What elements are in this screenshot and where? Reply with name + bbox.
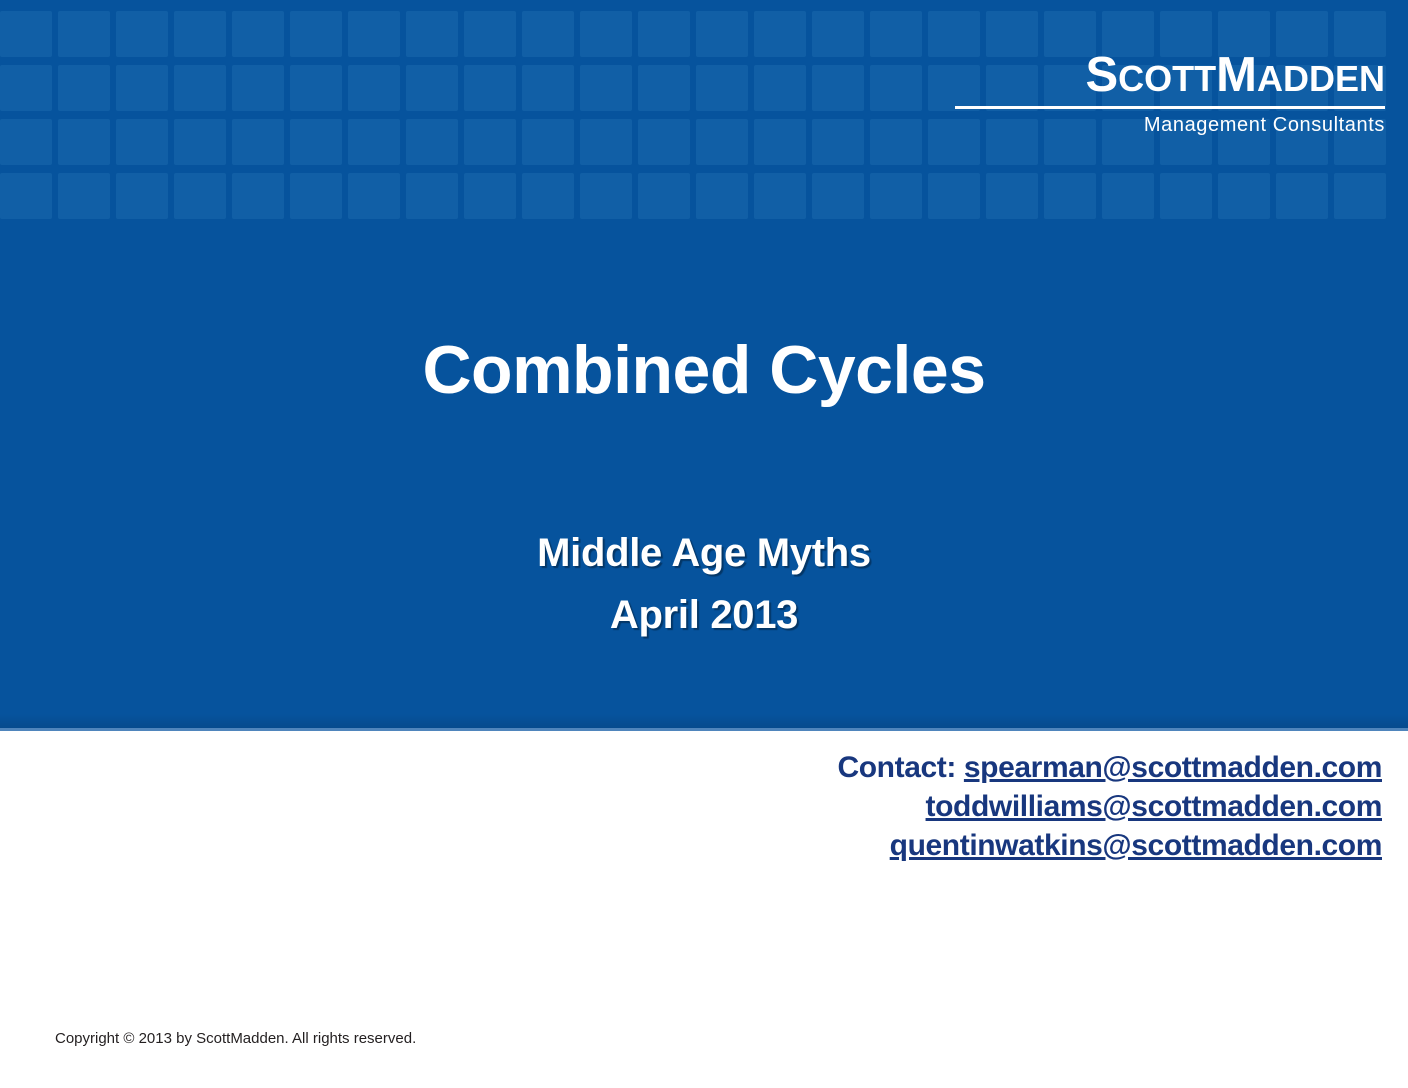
grid-cell <box>348 173 400 219</box>
grid-cell <box>174 11 226 57</box>
grid-cell <box>638 119 690 165</box>
grid-cell <box>290 65 342 111</box>
grid-cell <box>290 119 342 165</box>
grid-cell <box>754 65 806 111</box>
grid-cell <box>348 65 400 111</box>
page-title: Combined Cycles <box>0 330 1408 410</box>
scottmadden-logo: SCOTTMADDEN Management Consultants <box>955 50 1385 137</box>
grid-cell <box>406 173 458 219</box>
subtitle-block: Middle Age Myths April 2013 <box>0 522 1408 646</box>
grid-cell <box>1102 173 1154 219</box>
grid-cell <box>406 65 458 111</box>
grid-cell <box>638 65 690 111</box>
grid-cell <box>928 173 980 219</box>
grid-cell <box>232 65 284 111</box>
logo-tagline: Management Consultants <box>955 113 1385 137</box>
grid-cell <box>116 119 168 165</box>
title-slide-hero-panel: SCOTTMADDEN Management Consultants Combi… <box>0 0 1408 731</box>
grid-cell <box>0 119 52 165</box>
hero-bottom-shade <box>0 714 1408 728</box>
grid-cell <box>870 65 922 111</box>
logo-wordmark: SCOTTMADDEN <box>955 50 1385 104</box>
grid-cell <box>58 173 110 219</box>
grid-cell <box>0 65 52 111</box>
grid-cell <box>406 119 458 165</box>
grid-cell <box>870 173 922 219</box>
contact-row-1: Contact: spearman@scottmadden.com <box>837 748 1382 787</box>
grid-cell <box>406 11 458 57</box>
grid-cell <box>174 119 226 165</box>
grid-cell <box>696 173 748 219</box>
contact-email-link-1[interactable]: spearman@scottmadden.com <box>964 751 1382 784</box>
grid-cell <box>754 11 806 57</box>
grid-cell <box>986 173 1038 219</box>
contact-row-2: toddwilliams@scottmadden.com <box>837 787 1382 826</box>
grid-cell <box>174 65 226 111</box>
grid-cell <box>580 173 632 219</box>
contact-row-3: quentinwatkins@scottmadden.com <box>837 826 1382 865</box>
grid-cell <box>696 65 748 111</box>
grid-cell <box>290 11 342 57</box>
grid-cell <box>174 173 226 219</box>
grid-cell <box>812 65 864 111</box>
grid-cell <box>522 65 574 111</box>
contact-email-link-3[interactable]: quentinwatkins@scottmadden.com <box>890 829 1382 862</box>
grid-cell <box>638 11 690 57</box>
grid-cell <box>870 119 922 165</box>
grid-cell <box>638 173 690 219</box>
grid-cell <box>812 11 864 57</box>
grid-cell <box>1218 173 1270 219</box>
grid-cell <box>580 119 632 165</box>
logo-divider-rule <box>955 106 1385 109</box>
grid-cell <box>58 65 110 111</box>
grid-cell <box>232 173 284 219</box>
grid-cell <box>580 65 632 111</box>
logo-wordmark-cott: COTT <box>1118 58 1216 99</box>
hero-bottom-rule <box>0 728 1408 731</box>
grid-cell <box>290 173 342 219</box>
grid-cell <box>464 119 516 165</box>
grid-cell <box>58 11 110 57</box>
grid-cell <box>522 11 574 57</box>
grid-cell <box>232 119 284 165</box>
grid-cell <box>1276 173 1328 219</box>
contact-email-link-2[interactable]: toddwilliams@scottmadden.com <box>926 790 1382 823</box>
grid-cell <box>1334 173 1386 219</box>
grid-cell <box>522 119 574 165</box>
grid-cell <box>754 173 806 219</box>
grid-cell <box>580 11 632 57</box>
grid-cell <box>116 65 168 111</box>
subtitle-line-1: Middle Age Myths <box>0 522 1408 584</box>
grid-cell <box>348 11 400 57</box>
grid-cell <box>58 119 110 165</box>
title-block: Combined Cycles <box>0 330 1408 410</box>
grid-cell <box>116 11 168 57</box>
grid-cell <box>464 65 516 111</box>
grid-cell <box>116 173 168 219</box>
grid-cell <box>754 119 806 165</box>
grid-cell <box>1044 173 1096 219</box>
grid-cell <box>696 119 748 165</box>
grid-cell <box>1160 173 1212 219</box>
grid-cell <box>522 173 574 219</box>
grid-cell <box>0 173 52 219</box>
grid-cell <box>812 173 864 219</box>
grid-cell <box>812 119 864 165</box>
grid-cell <box>348 119 400 165</box>
subtitle-line-2: April 2013 <box>0 584 1408 646</box>
grid-cell <box>232 11 284 57</box>
logo-wordmark-m: M <box>1216 48 1257 102</box>
copyright-notice: Copyright © 2013 by ScottMadden. All rig… <box>55 1030 416 1048</box>
grid-cell <box>464 11 516 57</box>
grid-cell <box>464 173 516 219</box>
grid-cell <box>0 11 52 57</box>
grid-cell <box>870 11 922 57</box>
logo-wordmark-adden: ADDEN <box>1257 58 1385 99</box>
logo-wordmark-s: S <box>1085 48 1118 102</box>
contact-label: Contact: <box>837 751 955 784</box>
grid-cell <box>696 11 748 57</box>
contact-block: Contact: spearman@scottmadden.com toddwi… <box>837 748 1382 865</box>
